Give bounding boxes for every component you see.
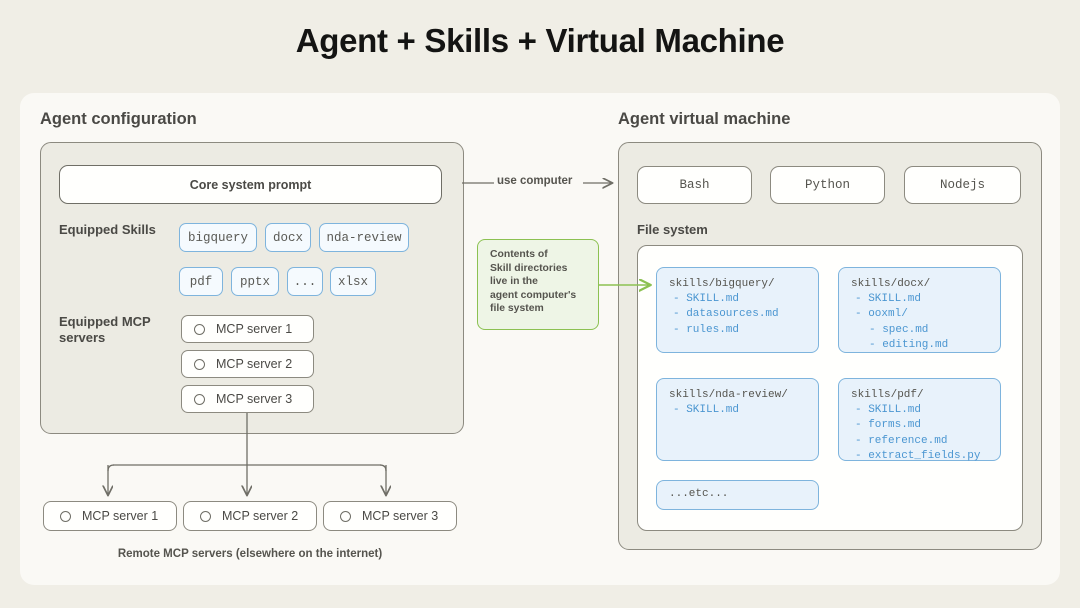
skill-card-docx-entry-2: - spec.md <box>869 324 928 336</box>
callout-line-5: file system <box>490 302 598 316</box>
circle-icon <box>194 359 205 370</box>
skill-card-bigquery-entry-0: - SKILL.md <box>673 293 739 305</box>
runtime-nodejs[interactable]: Nodejs <box>904 166 1021 204</box>
skill-card-pdf-entry-0: - SKILL.md <box>855 404 921 416</box>
skill-card-bigquery-dir: skills/bigquery/ <box>669 277 818 292</box>
skill-card-etc[interactable]: ...etc... <box>656 480 819 510</box>
skill-card-pdf-entry-1: - forms.md <box>855 419 921 431</box>
skill-pill-pptx[interactable]: pptx <box>231 267 279 296</box>
skill-pill-bigquery[interactable]: bigquery <box>179 223 257 252</box>
config-mcp-server-3[interactable]: MCP server 3 <box>181 385 314 413</box>
skill-card-docx-entry-3: - editing.md <box>869 339 948 351</box>
runtime-bash[interactable]: Bash <box>637 166 752 204</box>
remote-mcp-caption: Remote MCP servers (elsewhere on the int… <box>40 548 460 560</box>
config-mcp-server-2[interactable]: MCP server 2 <box>181 350 314 378</box>
core-system-prompt-box: Core system prompt <box>59 165 442 204</box>
config-mcp-server-1[interactable]: MCP server 1 <box>181 315 314 343</box>
skill-pill-more[interactable]: ... <box>287 267 323 296</box>
remote-mcp-server-1[interactable]: MCP server 1 <box>43 501 177 531</box>
callout-line-2: Skill directories <box>490 262 598 276</box>
skill-pill-docx[interactable]: docx <box>265 223 311 252</box>
skill-card-nda-review-entry-0: - SKILL.md <box>673 404 739 416</box>
circle-icon <box>60 511 71 522</box>
core-system-prompt-label: Core system prompt <box>190 178 312 192</box>
remote-mcp-server-2[interactable]: MCP server 2 <box>183 501 317 531</box>
skill-directories-callout: Contents of Skill directories live in th… <box>477 239 599 330</box>
remote-mcp-server-3[interactable]: MCP server 3 <box>323 501 457 531</box>
circle-icon <box>194 324 205 335</box>
runtime-python[interactable]: Python <box>770 166 885 204</box>
skill-card-nda-review[interactable]: skills/nda-review/ - SKILL.md <box>656 378 819 461</box>
callout-line-1: Contents of <box>490 248 598 262</box>
circle-icon <box>200 511 211 522</box>
config-mcp-server-3-label: MCP server 3 <box>216 392 292 406</box>
page-title: Agent + Skills + Virtual Machine <box>0 22 1080 60</box>
use-computer-label: use computer <box>497 175 572 187</box>
skill-card-docx-entry-0: - SKILL.md <box>855 293 921 305</box>
agent-configuration-heading: Agent configuration <box>40 110 197 129</box>
equipped-skills-label: Equipped Skills <box>59 222 169 238</box>
skill-pill-xlsx[interactable]: xlsx <box>330 267 376 296</box>
skill-pill-nda-review[interactable]: nda-review <box>319 223 409 252</box>
circle-icon <box>340 511 351 522</box>
skill-card-pdf-entry-2: - reference.md <box>855 435 947 447</box>
remote-mcp-server-1-label: MCP server 1 <box>82 509 158 523</box>
callout-line-3: live in the <box>490 275 598 289</box>
agent-virtual-machine-heading: Agent virtual machine <box>618 110 790 129</box>
remote-mcp-server-3-label: MCP server 3 <box>362 509 438 523</box>
skill-card-bigquery[interactable]: skills/bigquery/ - SKILL.md - datasource… <box>656 267 819 353</box>
config-mcp-server-1-label: MCP server 1 <box>216 322 292 336</box>
skill-card-pdf-entry-3: - extract_fields.py <box>855 450 980 462</box>
config-mcp-server-2-label: MCP server 2 <box>216 357 292 371</box>
skill-card-bigquery-entry-1: - datasources.md <box>673 308 779 320</box>
skill-pill-pdf[interactable]: pdf <box>179 267 223 296</box>
skill-card-nda-review-dir: skills/nda-review/ <box>669 388 818 403</box>
circle-icon <box>194 394 205 405</box>
skill-card-docx[interactable]: skills/docx/ - SKILL.md - ooxml/ - spec.… <box>838 267 1001 353</box>
callout-line-4: agent computer's <box>490 289 598 303</box>
skill-card-pdf-dir: skills/pdf/ <box>851 388 1000 403</box>
skill-card-docx-entry-1: - ooxml/ <box>855 308 908 320</box>
skill-card-bigquery-entry-2: - rules.md <box>673 324 739 336</box>
skill-card-docx-dir: skills/docx/ <box>851 277 1000 292</box>
file-system-label: File system <box>637 222 708 238</box>
remote-mcp-server-2-label: MCP server 2 <box>222 509 298 523</box>
skill-card-pdf[interactable]: skills/pdf/ - SKILL.md - forms.md - refe… <box>838 378 1001 461</box>
equipped-mcp-servers-label: Equipped MCP servers <box>59 314 161 346</box>
